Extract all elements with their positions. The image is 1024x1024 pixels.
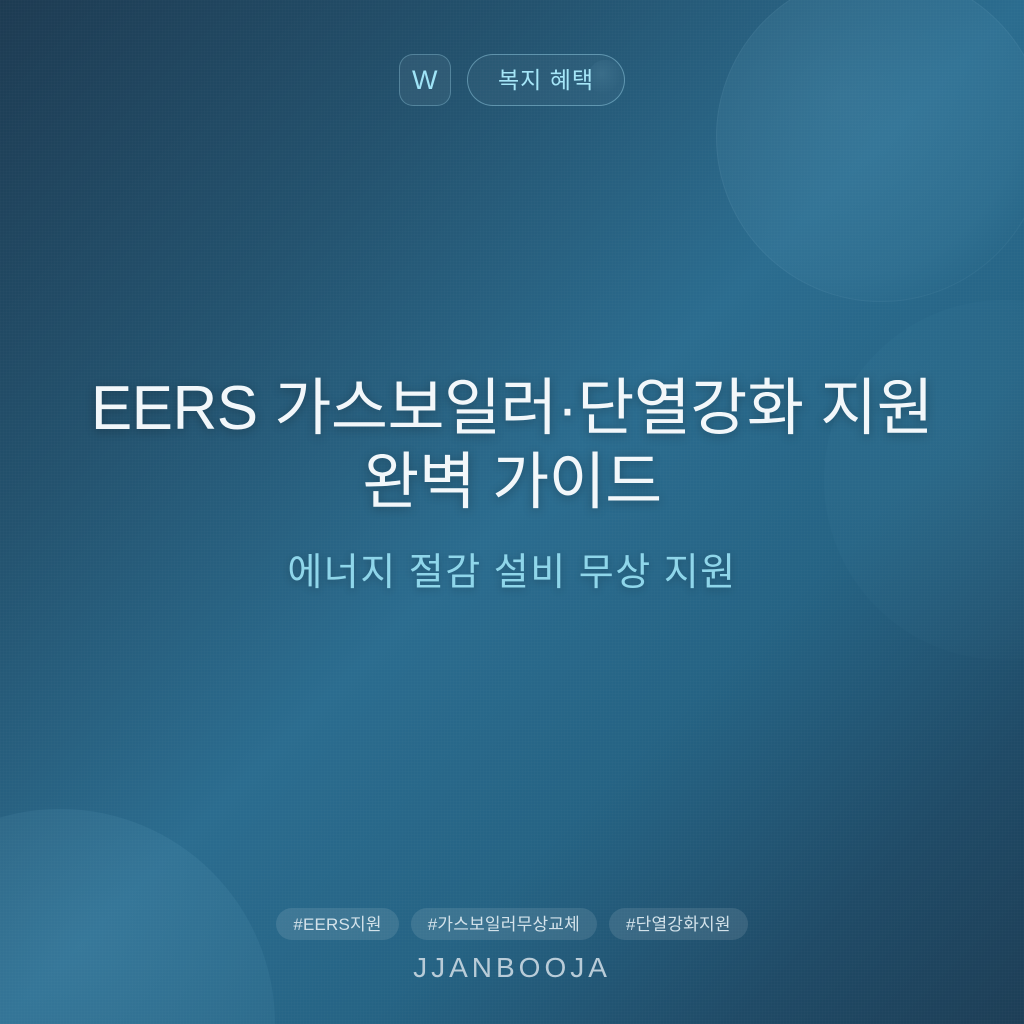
brand-wordmark: JJANBOOJA <box>413 954 611 982</box>
hashtag-pill[interactable]: #EERS지원 <box>276 908 398 940</box>
page-subtitle: 에너지 절감 설비 무상 지원 <box>48 549 976 598</box>
category-pill[interactable]: 복지 혜택 <box>467 54 625 106</box>
promo-card: W 복지 혜택 EERS 가스보일러·단열강화 지원 완벽 가이드 에너지 절감… <box>0 0 1024 1024</box>
hashtag-row: #EERS지원 #가스보일러무상교체 #단열강화지원 <box>276 908 747 940</box>
headline-block: EERS 가스보일러·단열강화 지원 완벽 가이드 에너지 절감 설비 무상 지… <box>0 372 1024 598</box>
hashtag-label: #가스보일러무상교체 <box>428 916 580 933</box>
w-logo-badge[interactable]: W <box>399 54 451 106</box>
footer: #EERS지원 #가스보일러무상교체 #단열강화지원 JJANBOOJA <box>0 908 1024 982</box>
decorative-circle-top-right-edge <box>716 0 1024 302</box>
category-pill-label: 복지 혜택 <box>498 69 594 92</box>
header-badge-row: W 복지 혜택 <box>0 54 1024 106</box>
hashtag-pill[interactable]: #단열강화지원 <box>609 908 748 940</box>
logo-letter-text: W <box>412 67 438 94</box>
page-title-line-2: 완벽 가이드 <box>48 446 976 520</box>
hashtag-pill[interactable]: #가스보일러무상교체 <box>411 908 597 940</box>
page-title-line-1: EERS 가스보일러·단열강화 지원 <box>48 372 976 446</box>
hashtag-label: #단열강화지원 <box>626 916 731 933</box>
hashtag-label: #EERS지원 <box>293 916 381 933</box>
decorative-circle-top-right <box>716 0 1024 302</box>
